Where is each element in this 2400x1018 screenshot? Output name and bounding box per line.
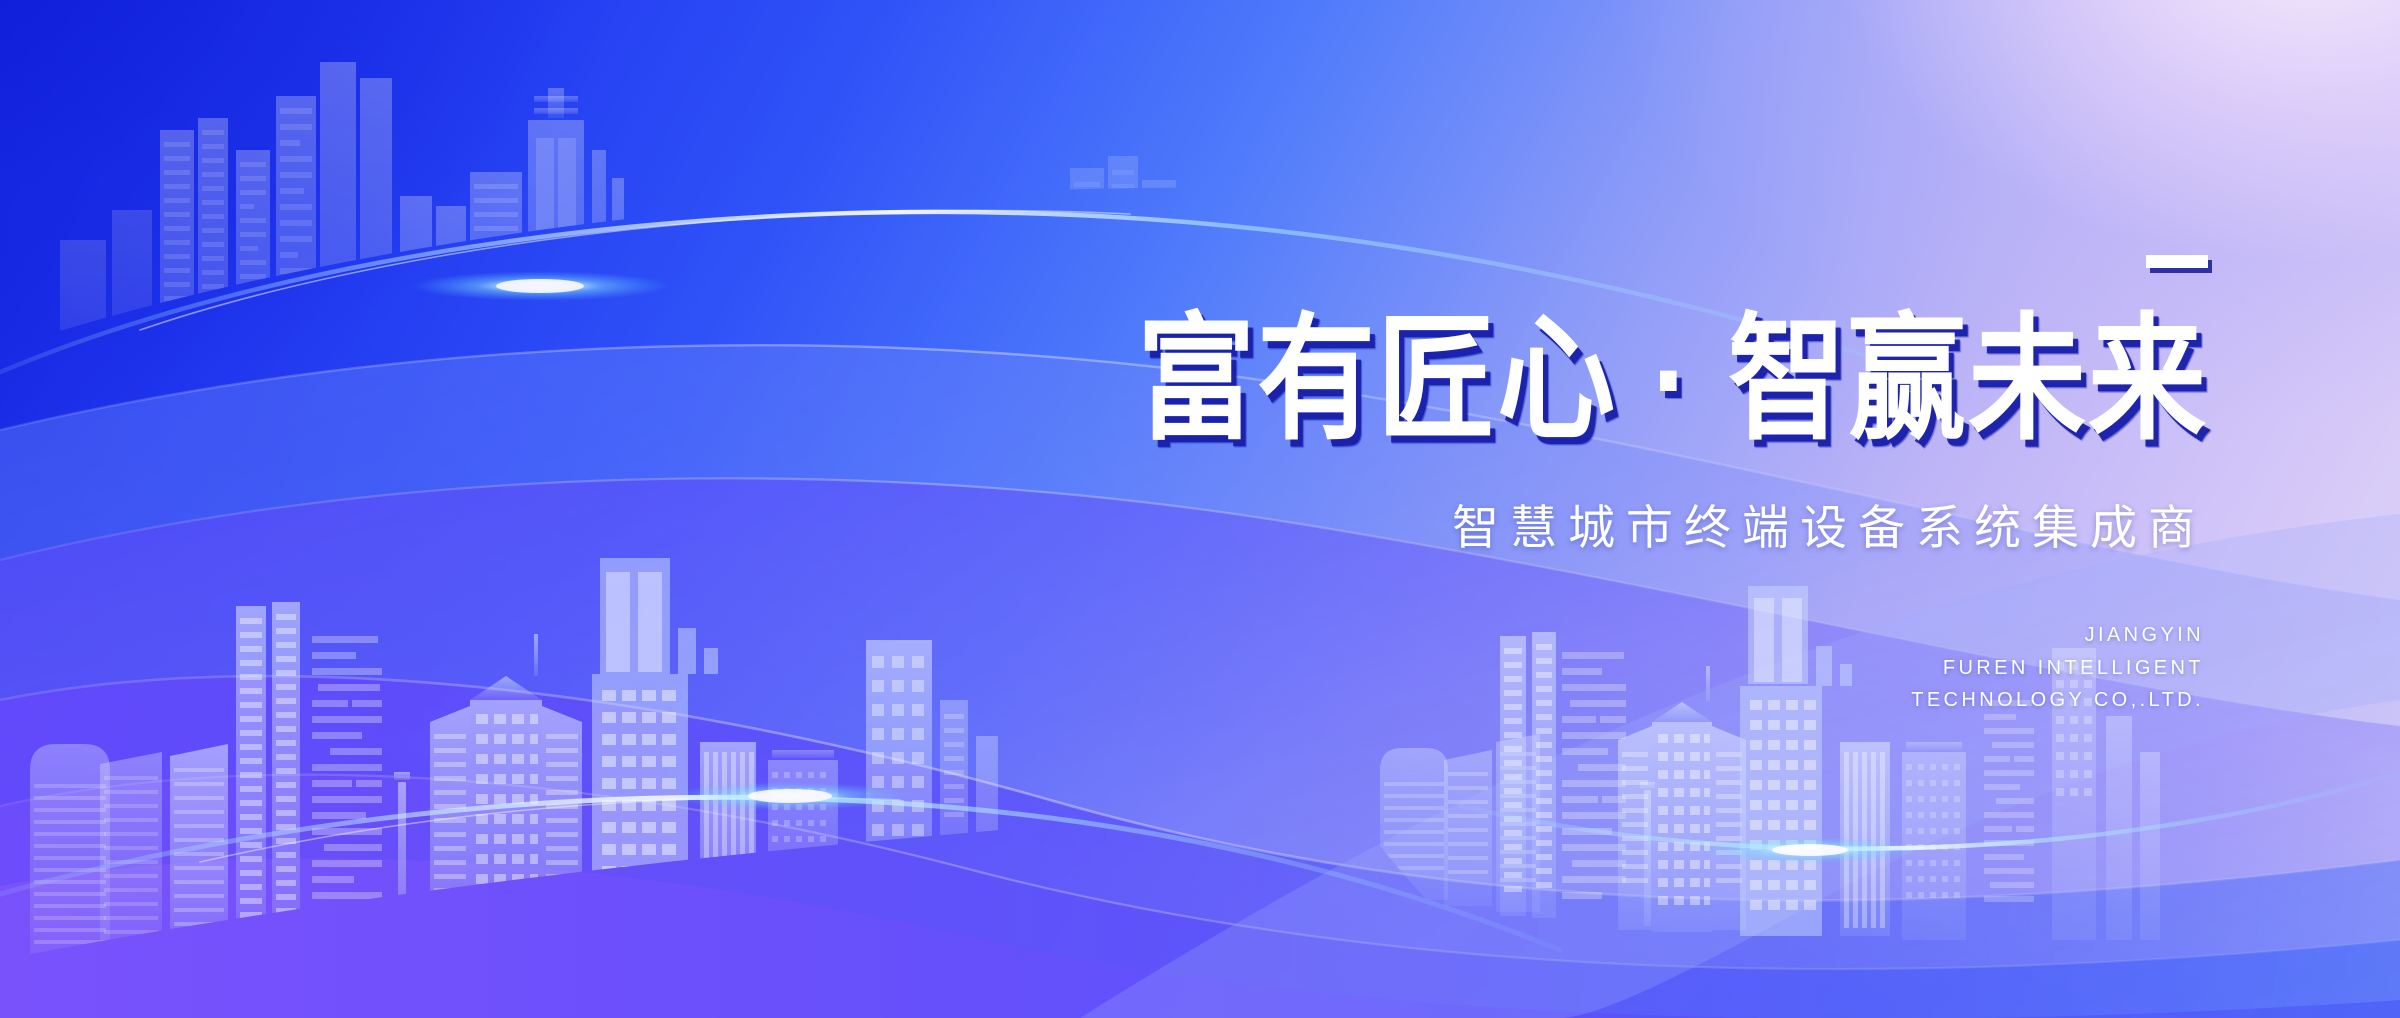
page-title: 富有匠心 · 智赢未来 — [708, 309, 2208, 451]
company-name-block: JIANGYIN FUREN INTELLIGENT TECHNOLOGY CO… — [708, 619, 2208, 716]
headline-block: 富有匠心 · 智赢未来 智慧城市终端设备系统集成商 JIANGYIN FUREN… — [708, 255, 2208, 717]
page-subtitle: 智慧城市终端设备系统集成商 — [708, 502, 2208, 554]
company-line-3: TECHNOLOGY CO,.LTD. — [708, 684, 2204, 716]
promo-banner: 富有匠心 · 智赢未来 智慧城市终端设备系统集成商 JIANGYIN FUREN… — [0, 0, 2400, 1018]
company-line-1: JIANGYIN — [708, 619, 2204, 651]
company-line-2: FUREN INTELLIGENT — [708, 652, 2204, 684]
accent-dash-icon — [2146, 255, 2208, 268]
